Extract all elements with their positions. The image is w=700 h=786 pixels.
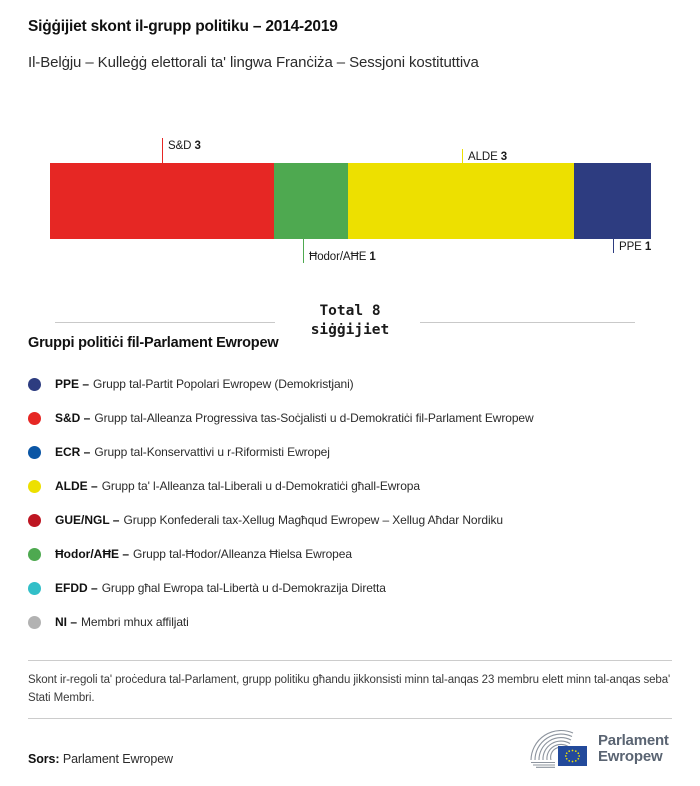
stacked-bar-chart: S&D 3 ALDE 3 Ħodor/AĦE 1 PPE 1 [0,120,700,280]
callout-label-alde: ALDE 3 [468,151,507,163]
callout-label-ppe: PPE 1 [619,241,651,253]
logo-wordmark: Parlament Ewropew [598,733,669,765]
legend-item-hodor[interactable]: Ħodor/AĦE – Grupp tal-Ħodor/Alleanza Ħie… [28,537,676,571]
chart-header: Siġġijiet skont il-grupp politiku – 2014… [28,16,672,74]
legend-abbr-ecr: ECR – [55,445,90,459]
footer-divider-top [28,660,672,661]
callout-line-alde [462,149,463,163]
legend-item-efdd[interactable]: EFDD – Grupp għal Ewropa tal-Libertà u d… [28,571,676,605]
source-line: Sors: Parlament Ewropew [28,752,173,766]
legend-desc-hodor: Grupp tal-Ħodor/Alleanza Ħielsa Ewropea [133,547,352,561]
total-seats-line1: Total 8 [0,302,700,321]
page-title: Siġġijiet skont il-grupp politiku – 2014… [28,16,672,38]
european-parliament-logo: Parlament Ewropew [528,727,676,771]
footer-divider-bottom [28,718,672,719]
callout-name-ppe: PPE [619,241,642,253]
callout-value-alde: 3 [501,151,507,163]
footnote: Skont ir-regoli ta' proċedura tal-Parlam… [28,671,674,707]
parliament-hemicycle-icon [528,729,590,769]
callout-line-ppe [613,239,614,253]
callout-line-hodor [303,239,304,263]
callout-value-ppe: 1 [645,241,651,253]
legend-abbr-efdd: EFDD – [55,581,98,595]
legend-dot-guengl [28,514,41,527]
callout-value-hodor: 1 [369,251,375,263]
legend-dot-alde [28,480,41,493]
legend-item-guengl[interactable]: GUE/NGL – Grupp Konfederali tax-Xellug M… [28,503,676,537]
source-value: Parlament Ewropew [63,752,173,766]
legend-dot-ppe [28,378,41,391]
legend-abbr-ppe: PPE – [55,377,89,391]
legend-heading: Gruppi politiċi fil-Parlament Ewropew [28,335,676,351]
callout-line-sd [162,138,163,163]
legend-dot-hodor [28,548,41,561]
legend-item-ppe[interactable]: PPE – Grupp tal-Partit Popolari Ewropew … [28,367,676,401]
legend-dot-ni [28,616,41,629]
legend-abbr-alde: ALDE – [55,479,98,493]
legend-desc-ni: Membri mhux affiljati [81,615,189,629]
legend-item-sd[interactable]: S&D – Grupp tal-Alleanza Progressiva tas… [28,401,676,435]
callout-name-hodor: Ħodor/AĦE [309,251,366,263]
legend-item-alde[interactable]: ALDE – Grupp ta' l-Alleanza tal-Liberali… [28,469,676,503]
callout-label-hodor: Ħodor/AĦE 1 [309,251,376,263]
legend-desc-ecr: Grupp tal-Konservattivi u r-Riformisti E… [94,445,329,459]
legend-abbr-ni: NI – [55,615,77,629]
source-label: Sors: [28,752,59,766]
legend-desc-sd: Grupp tal-Alleanza Progressiva tas-Soċja… [94,411,533,425]
legend-dot-sd [28,412,41,425]
legend: Gruppi politiċi fil-Parlament Ewropew PP… [28,335,676,639]
legend-dot-ecr [28,446,41,459]
callout-value-sd: 3 [194,140,200,152]
callout-label-sd: S&D 3 [168,140,201,152]
legend-item-ecr[interactable]: ECR – Grupp tal-Konservattivi u r-Riform… [28,435,676,469]
bar-track [50,163,651,239]
legend-abbr-guengl: GUE/NGL – [55,513,119,527]
legend-desc-alde: Grupp ta' l-Alleanza tal-Liberali u d-De… [102,479,420,493]
logo-line-2: Ewropew [598,749,669,765]
legend-abbr-hodor: Ħodor/AĦE – [55,547,129,561]
callout-name-sd: S&D [168,140,191,152]
legend-dot-efdd [28,582,41,595]
callout-name-alde: ALDE [468,151,498,163]
legend-item-ni[interactable]: NI – Membri mhux affiljati [28,605,676,639]
legend-desc-ppe: Grupp tal-Partit Popolari Ewropew (Demok… [93,377,354,391]
bar-segment-sd[interactable] [50,163,274,239]
bar-segment-hodor[interactable] [274,163,348,239]
legend-desc-guengl: Grupp Konfederali tax-Xellug Magħqud Ewr… [123,513,503,527]
legend-desc-efdd: Grupp għal Ewropa tal-Libertà u d-Demokr… [102,581,386,595]
bar-segment-ppe[interactable] [574,163,651,239]
page-subtitle: Il-Belġju – Kulleġġ elettorali ta' lingw… [28,38,672,74]
legend-abbr-sd: S&D – [55,411,90,425]
bar-segment-alde[interactable] [348,163,574,239]
logo-line-1: Parlament [598,733,669,749]
